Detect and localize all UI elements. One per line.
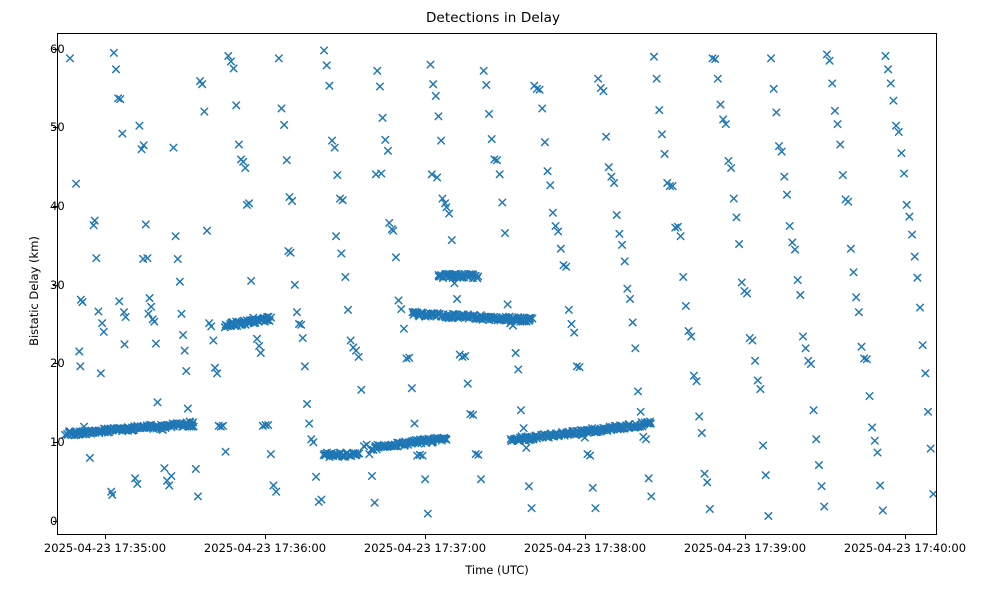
scatter-marker bbox=[338, 250, 345, 257]
y-tick-mark bbox=[53, 442, 57, 443]
scatter-marker bbox=[294, 309, 301, 316]
scatter-marker bbox=[866, 393, 873, 400]
scatter-marker bbox=[800, 333, 807, 340]
scatter-marker bbox=[345, 307, 352, 314]
scatter-marker bbox=[446, 210, 453, 217]
scatter-marker bbox=[385, 147, 392, 154]
scatter-marker bbox=[355, 354, 362, 361]
scatter-marker bbox=[132, 475, 139, 482]
scatter-marker bbox=[512, 350, 519, 357]
scatter-marker bbox=[818, 483, 825, 490]
scatter-marker bbox=[523, 445, 530, 452]
scatter-marker bbox=[339, 197, 346, 204]
scatter-marker bbox=[707, 506, 714, 513]
scatter-marker bbox=[278, 105, 285, 112]
scatter-marker bbox=[496, 171, 503, 178]
scatter-marker bbox=[539, 105, 546, 112]
scatter-marker bbox=[153, 340, 160, 347]
scatter-marker bbox=[168, 473, 175, 480]
scatter-marker bbox=[306, 420, 313, 427]
scatter-marker bbox=[93, 255, 100, 262]
y-axis-label: Bistatic Delay (km) bbox=[27, 141, 41, 441]
scatter-marker bbox=[214, 370, 221, 377]
scatter-marker bbox=[520, 425, 527, 432]
scatter-marker bbox=[738, 279, 745, 286]
scatter-marker bbox=[331, 144, 338, 151]
scatter-marker bbox=[605, 164, 612, 171]
scatter-marker bbox=[648, 493, 655, 500]
scatter-marker bbox=[568, 321, 575, 328]
scatter-marker bbox=[87, 455, 94, 462]
scatter-marker bbox=[603, 133, 610, 140]
scatter-marker bbox=[148, 303, 155, 310]
scatter-marker bbox=[448, 237, 455, 244]
scatter-marker bbox=[893, 122, 900, 129]
scatter-marker bbox=[236, 141, 243, 148]
scatter-marker bbox=[592, 505, 599, 512]
scatter-marker bbox=[222, 448, 229, 455]
scatter-marker bbox=[464, 380, 471, 387]
scatter-marker bbox=[832, 108, 839, 115]
scatter-marker bbox=[119, 130, 126, 137]
scatter-marker bbox=[848, 245, 855, 252]
scatter-marker bbox=[329, 137, 336, 144]
scatter-marker bbox=[914, 274, 921, 281]
scatter-marker bbox=[212, 365, 219, 372]
scatter-marker bbox=[619, 242, 626, 249]
scatter-marker bbox=[616, 231, 623, 238]
scatter-marker bbox=[183, 368, 190, 375]
scatter-marker bbox=[193, 466, 200, 473]
scatter-marker bbox=[728, 165, 735, 172]
x-tick-label: 2025-04-23 17:39:00 bbox=[684, 541, 806, 555]
scatter-marker bbox=[174, 256, 181, 263]
scatter-marker bbox=[656, 107, 663, 114]
scatter-marker bbox=[77, 363, 84, 370]
scatter-canvas bbox=[58, 34, 936, 534]
scatter-marker bbox=[310, 439, 317, 446]
scatter-marker bbox=[571, 329, 578, 336]
scatter-marker bbox=[627, 296, 634, 303]
y-tick-mark bbox=[53, 49, 57, 50]
scatter-marker bbox=[589, 484, 596, 491]
scatter-marker bbox=[856, 309, 863, 316]
scatter-marker bbox=[483, 82, 490, 89]
scatter-marker bbox=[895, 129, 902, 136]
scatter-marker bbox=[233, 102, 240, 109]
scatter-marker bbox=[762, 472, 769, 479]
scatter-marker bbox=[284, 157, 291, 164]
x-tick-mark bbox=[585, 535, 586, 539]
scatter-marker bbox=[111, 50, 118, 57]
y-tick-mark bbox=[53, 285, 57, 286]
scatter-marker bbox=[768, 55, 775, 62]
scatter-marker bbox=[802, 345, 809, 352]
scatter-marker bbox=[813, 436, 820, 443]
scatter-marker bbox=[898, 150, 905, 157]
scatter-marker bbox=[178, 310, 185, 317]
scatter-marker bbox=[95, 308, 102, 315]
scatter-marker bbox=[754, 377, 761, 384]
scatter-marker bbox=[478, 476, 485, 483]
matplotlib-figure: Detections in Delay 2025-04-23 17:35:002… bbox=[0, 0, 986, 590]
scatter-marker bbox=[704, 479, 711, 486]
scatter-marker bbox=[273, 488, 280, 495]
scatter-marker bbox=[342, 274, 349, 281]
scatter-marker bbox=[547, 182, 554, 189]
scatter-marker bbox=[371, 499, 378, 506]
scatter-marker bbox=[201, 108, 208, 115]
x-tick-mark bbox=[745, 535, 746, 539]
scatter-marker bbox=[326, 82, 333, 89]
scatter-marker bbox=[67, 55, 74, 62]
scatter-marker bbox=[411, 420, 418, 427]
scatter-marker bbox=[379, 115, 386, 122]
x-tick-mark bbox=[905, 535, 906, 539]
scatter-marker bbox=[789, 239, 796, 246]
scatter-marker bbox=[358, 387, 365, 394]
scatter-marker bbox=[680, 274, 687, 281]
scatter-marker bbox=[781, 173, 788, 180]
scatter-marker bbox=[401, 325, 408, 332]
scatter-marker bbox=[903, 202, 910, 209]
scatter-marker bbox=[323, 62, 330, 69]
scatter-marker bbox=[378, 170, 385, 177]
scatter-marker bbox=[270, 482, 277, 489]
scatter-marker bbox=[794, 277, 801, 284]
scatter-marker bbox=[824, 51, 831, 58]
scatter-marker bbox=[600, 88, 607, 95]
scatter-marker bbox=[333, 233, 340, 240]
scatter-marker bbox=[313, 474, 320, 481]
scatter-marker bbox=[515, 366, 522, 373]
scatter-marker bbox=[374, 68, 381, 75]
scatter-marker bbox=[786, 223, 793, 230]
scatter-marker bbox=[353, 347, 360, 354]
scatter-marker bbox=[544, 168, 551, 175]
scatter-marker bbox=[699, 430, 706, 437]
scatter-marker bbox=[563, 263, 570, 270]
scatter-marker bbox=[919, 342, 926, 349]
x-tick-mark bbox=[105, 535, 106, 539]
scatter-marker bbox=[386, 220, 393, 227]
scatter-marker bbox=[116, 298, 123, 305]
scatter-marker bbox=[287, 249, 294, 256]
y-tick-mark bbox=[53, 206, 57, 207]
scatter-marker bbox=[369, 473, 376, 480]
scatter-marker bbox=[185, 405, 192, 412]
scatter-marker bbox=[486, 111, 493, 118]
scatter-marker bbox=[661, 151, 668, 158]
scatter-marker bbox=[733, 214, 740, 221]
scatter-marker bbox=[877, 482, 884, 489]
scatter-marker bbox=[558, 245, 565, 252]
scatter-marker bbox=[792, 246, 799, 253]
scatter-marker bbox=[624, 285, 631, 292]
scatter-marker bbox=[645, 475, 652, 482]
scatter-marker bbox=[302, 363, 309, 370]
scatter-marker bbox=[113, 66, 120, 73]
scatter-marker bbox=[134, 481, 141, 488]
scatter-marker bbox=[151, 318, 158, 325]
scatter-marker bbox=[744, 290, 751, 297]
scatter-marker bbox=[715, 75, 722, 82]
scatter-marker bbox=[395, 297, 402, 304]
scatter-marker bbox=[765, 513, 772, 520]
scatter-marker bbox=[629, 319, 636, 326]
scatter-marker bbox=[821, 503, 828, 510]
scatter-marker bbox=[181, 347, 188, 354]
scatter-marker bbox=[143, 221, 150, 228]
scatter-marker bbox=[653, 75, 660, 82]
scatter-marker bbox=[611, 180, 618, 187]
scatter-marker bbox=[834, 121, 841, 128]
scatter-marker bbox=[430, 81, 437, 88]
scatter-marker bbox=[752, 358, 759, 365]
y-tick-mark bbox=[53, 363, 57, 364]
scatter-marker bbox=[858, 343, 865, 350]
scatter-marker bbox=[901, 170, 908, 177]
scatter-marker bbox=[717, 101, 724, 108]
scatter-marker bbox=[170, 144, 177, 151]
scatter-marker bbox=[393, 254, 400, 261]
scatter-marker bbox=[210, 337, 217, 344]
scatter-marker bbox=[869, 424, 876, 431]
scatter-marker bbox=[208, 323, 215, 330]
scatter-marker bbox=[784, 191, 791, 198]
x-axis-label: Time (UTC) bbox=[57, 563, 937, 577]
scatter-marker bbox=[909, 231, 916, 238]
scatter-marker bbox=[230, 65, 237, 72]
scatter-marker bbox=[621, 258, 628, 265]
scatter-marker bbox=[837, 141, 844, 148]
scatter-marker bbox=[882, 53, 889, 60]
scatter-marker bbox=[701, 470, 708, 477]
scatter-marker bbox=[550, 209, 557, 216]
scatter-marker bbox=[292, 281, 299, 288]
chart-title: Detections in Delay bbox=[0, 10, 986, 26]
scatter-marker bbox=[773, 109, 780, 116]
scatter-marker bbox=[760, 442, 767, 449]
scatter-marker bbox=[613, 212, 620, 219]
scatter-marker bbox=[98, 370, 105, 377]
scatter-marker bbox=[874, 449, 881, 456]
scatter-marker bbox=[643, 436, 650, 443]
scatter-marker bbox=[930, 491, 936, 498]
scatter-marker bbox=[840, 172, 847, 179]
scatter-marker bbox=[154, 399, 161, 406]
scatter-marker bbox=[204, 227, 211, 234]
scatter-marker bbox=[887, 80, 894, 87]
scatter-marker bbox=[321, 47, 328, 54]
scatter-marker bbox=[757, 386, 764, 393]
scatter-marker bbox=[286, 194, 293, 201]
scatter-marker bbox=[304, 401, 311, 408]
scatter-marker bbox=[637, 408, 644, 415]
scatter-marker bbox=[808, 361, 815, 368]
scatter-marker bbox=[542, 139, 549, 146]
scatter-marker bbox=[885, 66, 892, 73]
scatter-marker bbox=[587, 452, 594, 459]
scatter-marker bbox=[502, 230, 509, 237]
scatter-marker bbox=[422, 476, 429, 483]
scatter-marker bbox=[651, 53, 658, 60]
scatter-marker bbox=[248, 278, 255, 285]
scatter-marker bbox=[199, 81, 206, 88]
scatter-marker bbox=[347, 337, 354, 344]
scatter-marker bbox=[499, 199, 506, 206]
scatter-marker bbox=[425, 510, 432, 517]
scatter-marker bbox=[180, 332, 187, 339]
x-tick-mark bbox=[425, 535, 426, 539]
x-tick-label: 2025-04-23 17:36:00 bbox=[204, 541, 326, 555]
scatter-marker bbox=[683, 303, 690, 310]
scatter-marker bbox=[433, 93, 440, 100]
scatter-marker bbox=[438, 137, 445, 144]
x-tick-label: 2025-04-23 17:40:00 bbox=[844, 541, 966, 555]
scatter-marker bbox=[177, 278, 184, 285]
scatter-marker bbox=[256, 343, 263, 350]
scatter-marker bbox=[398, 306, 405, 313]
scatter-marker bbox=[76, 348, 83, 355]
scatter-marker bbox=[526, 483, 533, 490]
scatter-marker bbox=[853, 294, 860, 301]
scatter-marker bbox=[480, 68, 487, 75]
scatter-marker bbox=[488, 136, 495, 143]
scatter-marker bbox=[677, 233, 684, 240]
scatter-marker bbox=[749, 337, 756, 344]
scatter-marker bbox=[879, 507, 886, 514]
scatter-marker bbox=[382, 137, 389, 144]
scatter-marker bbox=[829, 80, 836, 87]
scatter-marker bbox=[289, 198, 296, 205]
scatter-marker bbox=[281, 122, 288, 129]
scatter-marker bbox=[528, 505, 535, 512]
scatter-marker bbox=[890, 97, 897, 104]
x-tick-label: 2025-04-23 17:37:00 bbox=[364, 541, 486, 555]
scatter-marker bbox=[246, 200, 253, 207]
scatter-marker bbox=[845, 198, 852, 205]
scatter-marker bbox=[409, 385, 416, 392]
scatter-marker bbox=[242, 165, 249, 172]
scatter-marker bbox=[79, 299, 86, 306]
scatter-marker bbox=[240, 158, 247, 165]
scatter-marker bbox=[632, 345, 639, 352]
scatter-marker bbox=[121, 341, 128, 348]
scatter-marker bbox=[917, 304, 924, 311]
scatter-marker bbox=[504, 301, 511, 308]
scatter-marker bbox=[254, 336, 261, 343]
scatter-marker bbox=[906, 213, 913, 220]
scatter-marker bbox=[136, 122, 143, 129]
scatter-marker bbox=[566, 307, 573, 314]
scatter-marker bbox=[922, 370, 929, 377]
scatter-marker bbox=[659, 131, 666, 138]
scatter-marker bbox=[810, 407, 817, 414]
scatter-marker bbox=[73, 180, 80, 187]
scatter-marker bbox=[172, 233, 179, 240]
scatter-marker bbox=[146, 295, 153, 302]
scatter-marker bbox=[770, 86, 777, 93]
scatter-marker bbox=[736, 241, 743, 248]
scatter-marker bbox=[816, 462, 823, 469]
scatter-marker bbox=[595, 75, 602, 82]
scatter-marker bbox=[318, 496, 325, 503]
scatter-marker bbox=[91, 217, 98, 224]
scatter-marker bbox=[826, 57, 833, 64]
x-tick-label: 2025-04-23 17:35:00 bbox=[44, 541, 166, 555]
scatter-marker bbox=[144, 255, 151, 262]
scatter-marker bbox=[725, 158, 732, 165]
scatter-marker bbox=[927, 445, 934, 452]
scatter-marker bbox=[850, 269, 857, 276]
scatter-marker bbox=[276, 55, 283, 62]
scatter-marker bbox=[518, 407, 525, 414]
scatter-marker bbox=[696, 413, 703, 420]
y-tick-mark bbox=[53, 521, 57, 522]
scatter-marker bbox=[797, 292, 804, 299]
x-tick-mark bbox=[265, 535, 266, 539]
y-tick-mark bbox=[53, 127, 57, 128]
scatter-marker bbox=[911, 253, 918, 260]
scatter-marker bbox=[435, 113, 442, 120]
scatter-marker bbox=[635, 388, 642, 395]
scatter-marker bbox=[268, 451, 275, 458]
scatter-marker bbox=[454, 296, 461, 303]
scatter-marker bbox=[100, 329, 107, 336]
plot-axes-area bbox=[57, 33, 937, 535]
scatter-marker bbox=[299, 335, 306, 342]
scatter-marker bbox=[195, 493, 202, 500]
scatter-marker bbox=[334, 172, 341, 179]
scatter-marker bbox=[161, 465, 168, 472]
scatter-marker bbox=[925, 408, 932, 415]
scatter-marker bbox=[872, 437, 879, 444]
scatter-marker bbox=[257, 350, 264, 357]
scatter-marker bbox=[427, 61, 434, 68]
x-tick-label: 2025-04-23 17:38:00 bbox=[524, 541, 646, 555]
scatter-marker bbox=[731, 195, 738, 202]
scatter-marker bbox=[608, 173, 615, 180]
scatter-marker bbox=[145, 310, 152, 317]
scatter-marker bbox=[99, 320, 106, 327]
scatter-marker bbox=[377, 83, 384, 90]
